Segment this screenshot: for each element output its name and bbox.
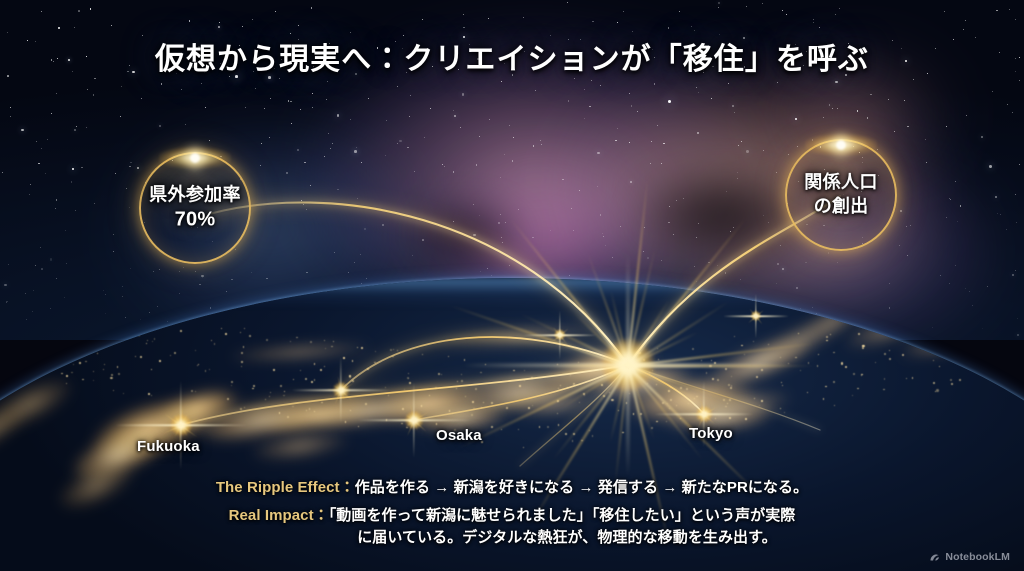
sparkle-icon: [159, 147, 231, 169]
caption-impact-line1: 「動画を作って新潟に魅せられました」「移住したい」という声が実際: [329, 507, 796, 524]
slide-canvas: 仮想から現実へ：クリエイションが「移住」を呼ぶ 県外参加率 70% 関係人口 の…: [0, 0, 1024, 571]
caption-impact-label: Real Impact: [229, 507, 314, 524]
stat-badge-relational-population[interactable]: 関係人口 の創出: [785, 139, 897, 251]
watermark-label: NotebookLM: [945, 551, 1010, 563]
notebooklm-logo-icon: [929, 551, 941, 563]
badge-label-line1: 関係人口: [769, 172, 913, 194]
caption-ripple-effect: The Ripple Effect：作品を作る → 新潟を好きになる → 発信す…: [0, 477, 1024, 499]
caption-impact-line2: に届いている。デジタルな熱狂が、物理的な移動を生み出す。: [0, 527, 1024, 549]
city-label-fukuoka: Fukuoka: [137, 438, 200, 455]
city-label-osaka: Osaka: [436, 427, 482, 444]
badge-label-line1: 県外参加率: [123, 184, 267, 206]
badge-value: 70%: [123, 207, 267, 231]
stat-badge-outside-participation[interactable]: 県外参加率 70%: [139, 152, 251, 264]
caption-real-impact: Real Impact：「動画を作って新潟に魅せられました」「移住したい」という…: [0, 505, 1024, 549]
sparkle-icon: [805, 134, 877, 156]
caption-ripple-text: 作品を作る → 新潟を好きになる → 発信する → 新たなPRになる。: [355, 479, 808, 496]
watermark: NotebookLM: [929, 551, 1010, 563]
page-title: 仮想から現実へ：クリエイションが「移住」を呼ぶ: [0, 34, 1024, 78]
caption-ripple-separator: ：: [340, 479, 355, 496]
badge-text: 関係人口 の創出: [769, 172, 913, 218]
badge-text: 県外参加率 70%: [123, 184, 267, 231]
city-label-tokyo: Tokyo: [689, 425, 733, 442]
caption-ripple-label: The Ripple Effect: [216, 479, 340, 496]
badge-label-line2: の創出: [769, 196, 913, 218]
caption-impact-separator: ：: [314, 507, 329, 524]
